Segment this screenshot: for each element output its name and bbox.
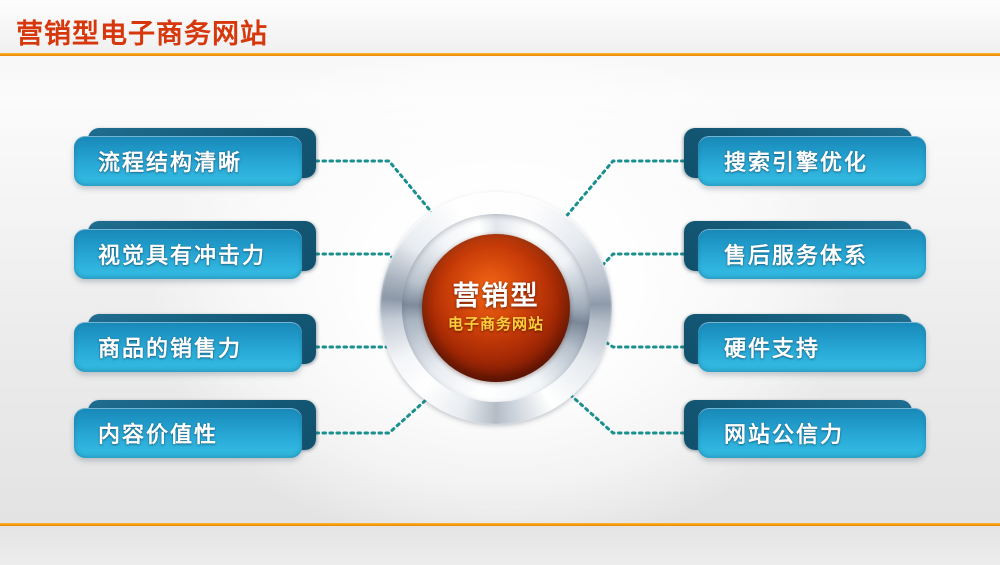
connector-right-2 <box>600 254 684 268</box>
left-item-4[interactable]: 内容价值性 <box>74 408 302 458</box>
hub-title: 营销型 <box>453 282 540 312</box>
left-item-2-face[interactable]: 视觉具有冲击力 <box>74 229 302 279</box>
right-item-3[interactable]: 硬件支持 <box>698 322 926 372</box>
header-divider-rule <box>0 53 1000 56</box>
left-item-3[interactable]: 商品的销售力 <box>74 322 302 372</box>
right-item-4-label: 网站公信力 <box>724 417 844 449</box>
left-item-1[interactable]: 流程结构清晰 <box>74 136 302 186</box>
slide-header: 营销型电子商务网站 <box>0 0 1000 55</box>
hub-subtitle: 电子商务网站 <box>448 317 544 334</box>
slide-canvas: 营销型电子商务网站 营销型 电子商务网站 <box>0 0 1000 565</box>
right-item-2-face[interactable]: 售后服务体系 <box>698 229 926 279</box>
left-item-2-label: 视觉具有冲击力 <box>98 238 266 270</box>
right-item-3-face[interactable]: 硬件支持 <box>698 322 926 372</box>
right-item-2-label: 售后服务体系 <box>724 238 868 270</box>
center-hub[interactable]: 营销型 电子商务网站 <box>380 192 612 424</box>
right-item-1[interactable]: 搜索引擎优化 <box>698 136 926 186</box>
left-item-4-face[interactable]: 内容价值性 <box>74 408 302 458</box>
right-item-4-face[interactable]: 网站公信力 <box>698 408 926 458</box>
right-item-1-face[interactable]: 搜索引擎优化 <box>698 136 926 186</box>
left-item-3-label: 商品的销售力 <box>98 331 242 363</box>
right-item-3-label: 硬件支持 <box>724 331 820 363</box>
right-item-2[interactable]: 售后服务体系 <box>698 229 926 279</box>
left-item-2[interactable]: 视觉具有冲击力 <box>74 229 302 279</box>
right-item-1-label: 搜索引擎优化 <box>724 145 868 177</box>
page-title: 营销型电子商务网站 <box>16 12 268 51</box>
footer-band <box>0 526 1000 565</box>
left-item-1-label: 流程结构清晰 <box>98 145 242 177</box>
left-item-1-face[interactable]: 流程结构清晰 <box>74 136 302 186</box>
right-item-4[interactable]: 网站公信力 <box>698 408 926 458</box>
left-item-3-face[interactable]: 商品的销售力 <box>74 322 302 372</box>
left-item-4-label: 内容价值性 <box>98 417 218 449</box>
hub-core-circle: 营销型 电子商务网站 <box>422 234 570 382</box>
